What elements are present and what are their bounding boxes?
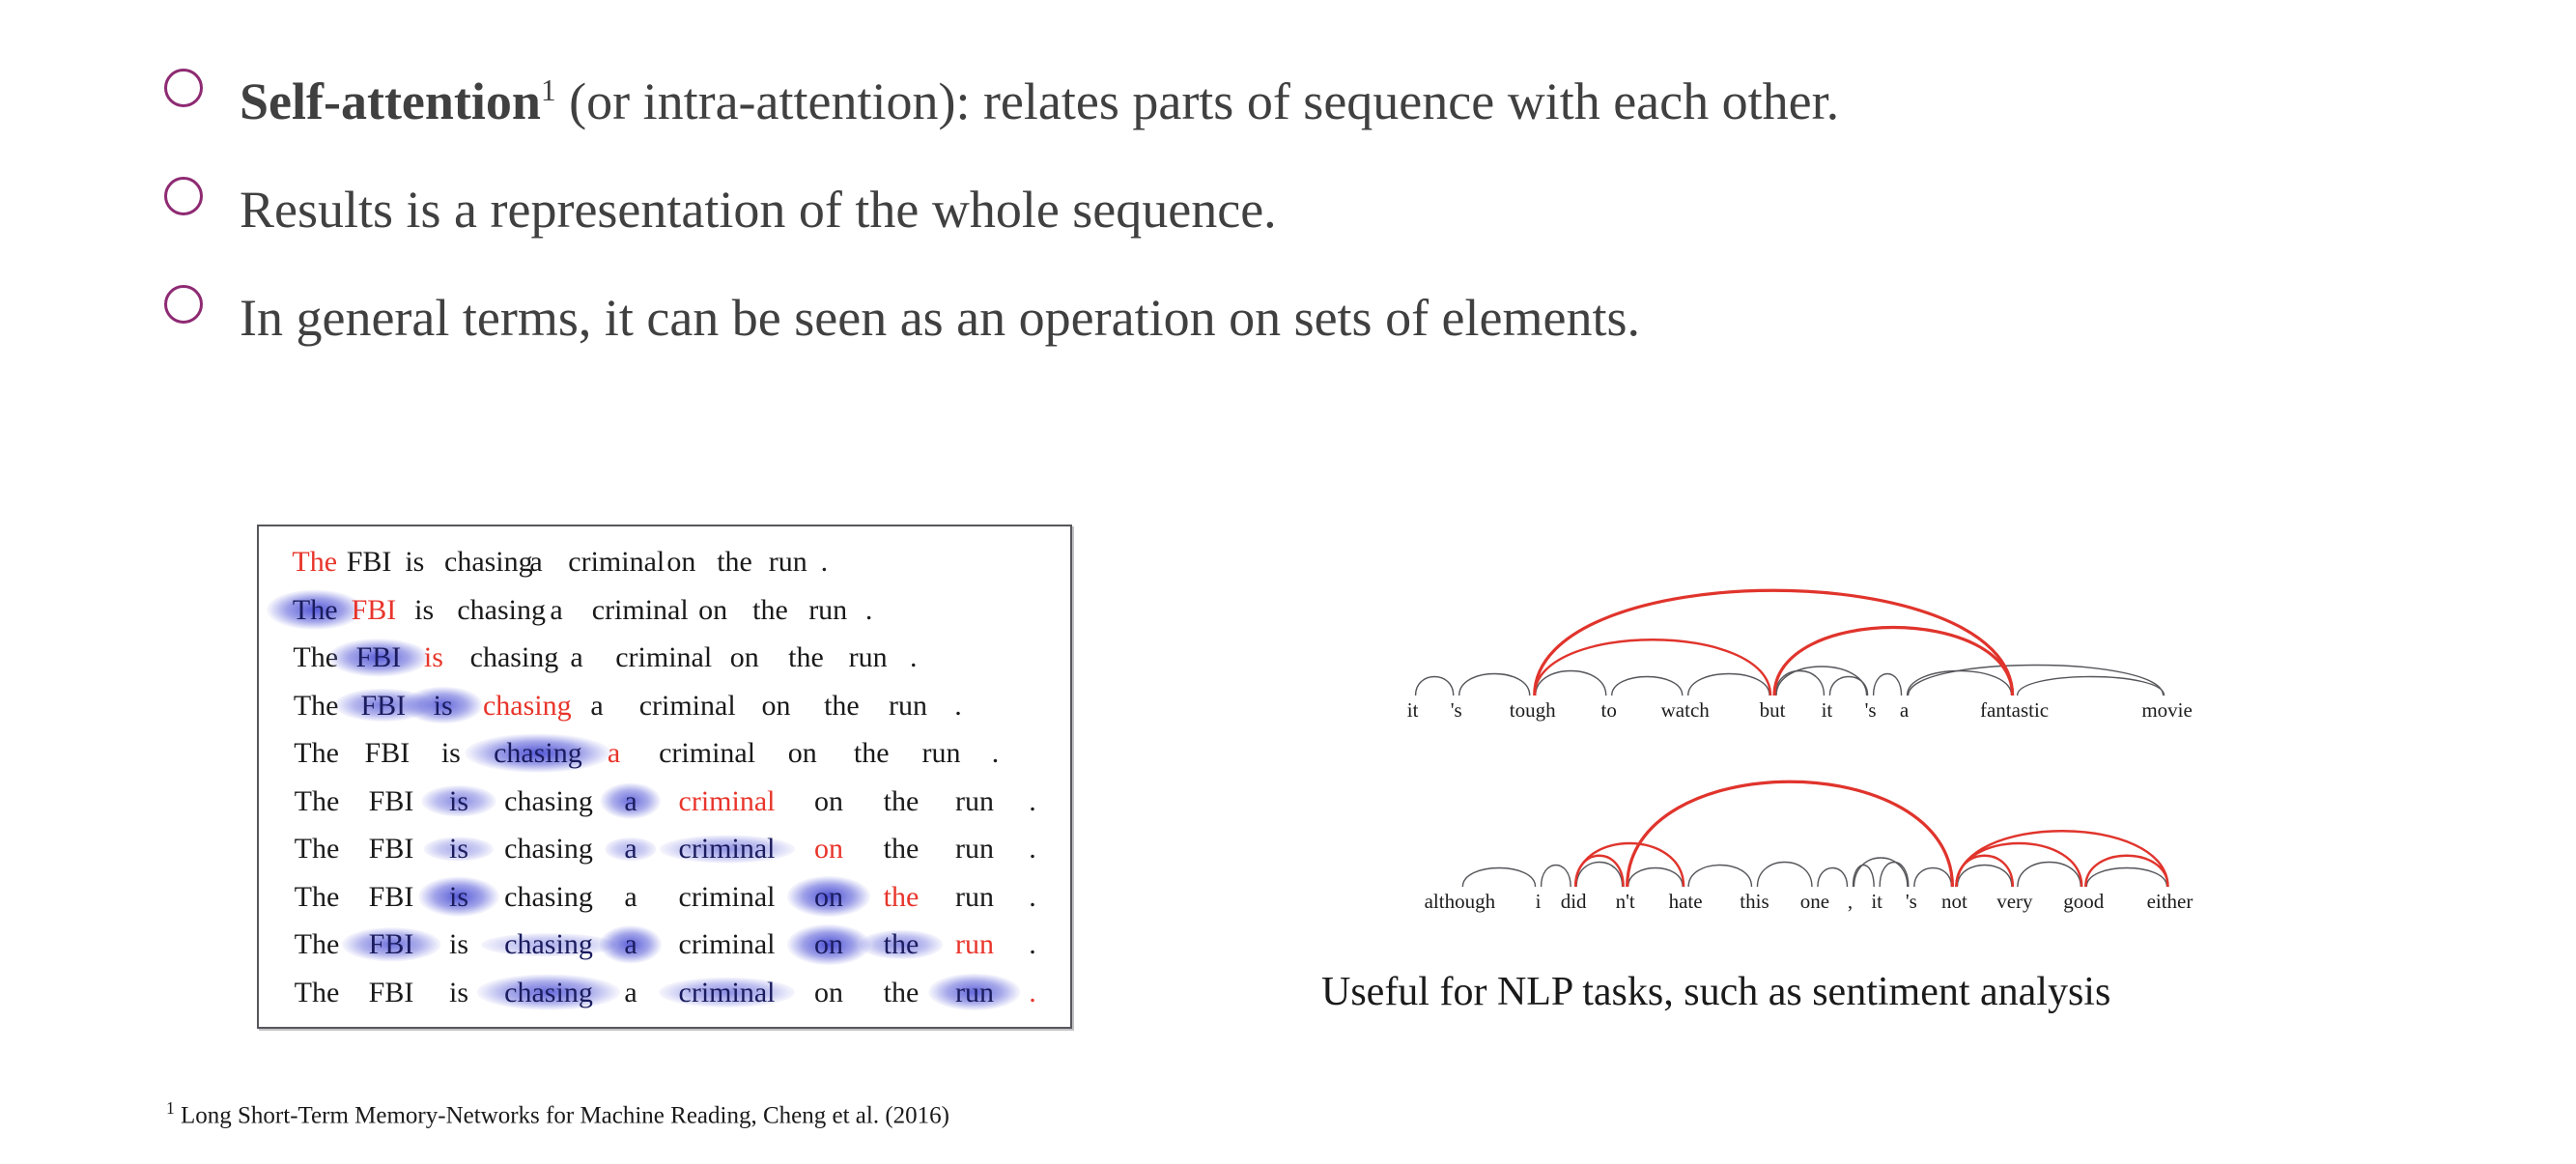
attention-glow — [660, 835, 795, 863]
attention-token: FBI — [342, 586, 406, 635]
arc-gray-segment — [1775, 671, 1824, 696]
arc-word-label: although — [1425, 890, 1496, 913]
arc-sentence-group: althoughididn'thatethisone,it'snotverygo… — [1425, 781, 2194, 913]
attention-token: FBI — [337, 538, 401, 586]
attention-token: on — [659, 538, 703, 586]
attention-token: the — [709, 538, 761, 586]
attention-token: FBI — [359, 921, 423, 969]
attention-token: criminal — [655, 729, 760, 778]
arc-gray-segment — [1854, 858, 1907, 887]
attention-token: run — [947, 778, 1003, 826]
attention-token: run — [840, 634, 896, 682]
attention-rows-container: TheFBIischasingacriminalontherun.TheFBIi… — [280, 538, 1057, 1017]
attention-glow — [342, 927, 440, 962]
arc-word-label: a — [1900, 698, 1910, 722]
attention-token: a — [602, 729, 627, 778]
attention-token: the — [875, 778, 927, 826]
arc-word-label: 's — [1451, 698, 1462, 722]
arc-gray-segment — [1462, 868, 1535, 888]
arc-word-label: this — [1740, 890, 1769, 913]
attention-token: FBI — [355, 729, 419, 778]
attention-token: FBI — [352, 682, 415, 730]
attention-token: The — [288, 969, 346, 1017]
attention-token: a — [564, 634, 589, 682]
arc-gray-segment — [1908, 671, 2012, 696]
arc-word-label: fantastic — [1980, 698, 2049, 722]
arc-gray-segment — [1914, 868, 1952, 888]
attention-token: chasing — [495, 873, 603, 922]
attention-token: on — [807, 873, 851, 922]
attention-glow — [605, 838, 656, 861]
attention-glow — [404, 687, 482, 724]
arc-gray-segment — [1818, 868, 1848, 888]
bullet-item-general-terms: In general terms, it can be seen as an o… — [164, 292, 2482, 379]
attention-token: run — [947, 873, 1003, 922]
attention-token: the — [779, 634, 832, 682]
attention-token: on — [807, 778, 851, 826]
attention-token: criminal — [564, 538, 669, 586]
attention-glow — [422, 785, 496, 816]
attention-token: on — [691, 586, 735, 635]
arc-red-segment — [2085, 856, 2167, 887]
arc-gray-segment — [1688, 674, 1769, 696]
arc-word-label: it — [1871, 890, 1882, 913]
arc-word-label: , — [1848, 890, 1853, 913]
attention-glow — [335, 689, 433, 722]
attention-token: chasing — [495, 825, 603, 873]
arc-gray-segment — [1536, 671, 1606, 696]
attention-token: on — [722, 634, 767, 682]
attention-glow — [787, 876, 870, 917]
attention-row: TheFBIischasingacriminalontherun. — [280, 873, 1057, 922]
arc-red-segment — [1535, 639, 1770, 696]
attention-token: criminal — [587, 586, 693, 635]
arc-word-label: watch — [1661, 698, 1711, 722]
bullet-text: Self-attention1 (or intra-attention): re… — [240, 75, 1839, 128]
attention-token: the — [875, 873, 927, 922]
attention-row: TheFBIischasingacriminalontherun. — [280, 778, 1057, 826]
attention-token: chasing — [495, 921, 603, 969]
attention-token: . — [1024, 825, 1041, 873]
arc-gray-segment — [1829, 677, 1867, 696]
attention-token: FBI — [359, 873, 423, 922]
attention-token: the — [875, 825, 927, 873]
attention-token: a — [618, 969, 643, 1017]
arc-figure-caption: Useful for NLP tasks, such as sentiment … — [1321, 969, 2110, 1015]
arc-gray-segment — [1459, 674, 1530, 696]
attention-glow — [424, 837, 494, 861]
attention-token: a — [618, 921, 643, 969]
bullet-rest-text: In general terms, it can be seen as an o… — [240, 289, 1640, 347]
attention-token: the — [875, 969, 927, 1017]
arc-word-label: not — [1941, 890, 1967, 913]
attention-token: FBI — [359, 778, 423, 826]
attention-token: run — [947, 825, 1003, 873]
attention-glow — [465, 733, 610, 773]
attention-glow — [418, 877, 498, 917]
attention-token: the — [744, 586, 796, 635]
attention-token: the — [875, 921, 927, 969]
attention-row: TheFBIischasingacriminalontherun. — [280, 538, 1057, 586]
attention-token: on — [754, 682, 799, 730]
attention-token: a — [584, 682, 609, 730]
arc-word-label: it — [1407, 698, 1419, 722]
attention-token: criminal — [674, 825, 779, 873]
arc-word-label: hate — [1669, 890, 1703, 913]
attention-token: criminal — [635, 682, 740, 730]
bullet-circle-icon — [164, 177, 203, 215]
arc-gray-segment — [1542, 866, 1571, 888]
attention-token: The — [288, 778, 346, 826]
arc-gray-segment — [1416, 677, 1454, 696]
arc-word-label: but — [1760, 698, 1786, 722]
arc-word-label: either — [2147, 890, 2194, 913]
attention-row: TheFBIischasingacriminalontherun. — [280, 969, 1057, 1017]
attention-token: criminal — [674, 778, 779, 826]
arc-word-label: tough — [1510, 698, 1556, 722]
attention-token: run — [947, 921, 1003, 969]
attention-token: run — [880, 682, 936, 730]
arc-red-segment — [1956, 831, 2167, 887]
attention-token: chasing — [484, 729, 592, 778]
attention-token: the — [845, 729, 897, 778]
arc-word-label: to — [1601, 698, 1617, 722]
attention-token: is — [403, 586, 445, 635]
attention-token: FBI — [359, 825, 423, 873]
arc-word-label: movie — [2141, 698, 2193, 722]
attention-token: chasing — [460, 634, 568, 682]
attention-row: TheFBIischasingacriminalontherun. — [280, 729, 1057, 778]
attention-token: . — [1024, 778, 1041, 826]
attention-token: . — [1024, 969, 1041, 1017]
attention-token: criminal — [674, 873, 779, 922]
arc-gray-segment — [1874, 674, 1902, 696]
attention-token: is — [430, 729, 472, 778]
attention-token: a — [618, 873, 643, 922]
attention-token: chasing — [495, 778, 603, 826]
bullet-list: Self-attention1 (or intra-attention): re… — [164, 75, 2482, 400]
bullet-text: Results is a representation of the whole… — [240, 184, 1277, 236]
arc-gray-segment — [1957, 866, 2011, 888]
arc-gray-segment — [1909, 666, 2164, 696]
attention-token: The — [288, 729, 346, 778]
attention-token: . — [861, 586, 878, 635]
attention-glow — [601, 783, 661, 819]
arc-gray-segment — [1880, 863, 1909, 888]
attention-token: a — [524, 538, 549, 586]
attention-row: TheFBIischasingacriminalontherun. — [280, 682, 1057, 730]
arc-word-label: good — [2063, 890, 2105, 913]
arc-gray-segment — [1628, 868, 1683, 888]
attention-token: . — [1024, 873, 1041, 922]
dependency-arc-figure: it'stoughtowatchbutit'safantasticmovieal… — [1372, 541, 2241, 947]
attention-glow — [481, 933, 615, 956]
arc-word-label: 's — [1906, 890, 1917, 913]
attention-token: FBI — [347, 634, 410, 682]
attention-glow — [860, 930, 943, 959]
bullet-circle-icon — [164, 69, 203, 107]
bullet-text: In general terms, it can be seen as an o… — [240, 292, 1640, 344]
attention-token: on — [807, 825, 851, 873]
attention-token: criminal — [674, 969, 779, 1017]
attention-token: The — [288, 921, 346, 969]
arc-gray-segment — [2018, 863, 2081, 888]
arc-gray-segment — [1688, 866, 1751, 888]
attention-token: The — [287, 634, 345, 682]
attention-token: is — [438, 969, 480, 1017]
attention-matrix-figure: TheFBIischasingacriminalontherun.TheFBIi… — [257, 525, 1072, 1029]
attention-token: the — [815, 682, 867, 730]
attention-token: is — [438, 778, 480, 826]
footnote-marker: 1 — [166, 1098, 175, 1118]
attention-token: . — [1024, 921, 1041, 969]
footnote: 1 Long Short-Term Memory-Networks for Ma… — [166, 1098, 949, 1129]
bullet-circle-icon — [164, 285, 203, 324]
arc-word-label: very — [1996, 890, 2033, 913]
attention-token: is — [412, 634, 455, 682]
attention-token: run — [760, 538, 816, 586]
attention-token: criminal — [674, 921, 779, 969]
attention-glow — [477, 975, 620, 1010]
arc-gray-segment — [2018, 677, 2165, 696]
attention-row: TheFBIischasingacriminalontherun. — [280, 825, 1057, 873]
bullet-item-self-attention: Self-attention1 (or intra-attention): re… — [164, 75, 2482, 162]
attention-token: on — [807, 921, 851, 969]
bullet-bold-lead: Self-attention — [240, 72, 541, 130]
attention-glow — [928, 974, 1020, 1010]
attention-token: on — [780, 729, 825, 778]
attention-token: a — [544, 586, 569, 635]
arc-gray-segment — [1612, 677, 1683, 696]
attention-token: The — [288, 825, 346, 873]
attention-row: TheFBIischasingacriminalontherun. — [280, 634, 1057, 682]
attention-token: run — [947, 969, 1003, 1017]
attention-token: The — [286, 538, 344, 586]
arc-red-segment — [1575, 856, 1624, 887]
attention-token: is — [422, 682, 465, 730]
arc-gray-segment — [1757, 863, 1811, 888]
attention-token: . — [949, 682, 967, 730]
attention-token: The — [288, 873, 346, 922]
attention-token: criminal — [611, 634, 717, 682]
arc-word-label: it — [1822, 698, 1833, 722]
attention-token: chasing — [447, 586, 555, 635]
attention-row: TheFBIischasingacriminalontherun. — [280, 586, 1057, 635]
attention-token: run — [800, 586, 856, 635]
attention-token: is — [438, 825, 480, 873]
bullet-rest-text: (or intra-attention): relates parts of s… — [556, 72, 1839, 130]
bullet-rest-text: Results is a representation of the whole… — [240, 181, 1277, 239]
arc-gray-segment — [2086, 868, 2166, 888]
arc-sentence-group: it'stoughtowatchbutit'safantasticmovie — [1407, 590, 2193, 722]
attention-token: is — [438, 921, 480, 969]
attention-token: a — [618, 778, 643, 826]
arc-word-label: i — [1536, 890, 1542, 913]
attention-token: The — [286, 586, 344, 635]
attention-token: . — [905, 634, 922, 682]
attention-token: chasing — [495, 969, 603, 1017]
attention-token: is — [393, 538, 436, 586]
attention-token: . — [987, 729, 1005, 778]
attention-row: TheFBIischasingacriminalontherun. — [280, 921, 1057, 969]
attention-token: run — [914, 729, 970, 778]
attention-glow — [659, 978, 795, 1007]
attention-token: chasing — [473, 682, 581, 730]
footnote-text: Long Short-Term Memory-Networks for Mach… — [175, 1102, 949, 1128]
arc-word-label: 's — [1865, 698, 1877, 722]
attention-glow — [787, 924, 870, 965]
arc-word-label: one — [1800, 890, 1829, 913]
attention-token: The — [287, 682, 345, 730]
attention-token: is — [438, 873, 480, 922]
footnote-superscript-marker: 1 — [541, 73, 556, 107]
attention-token: . — [815, 538, 833, 586]
arc-word-label: n't — [1616, 890, 1635, 913]
arc-gray-segment — [1776, 667, 1867, 696]
attention-token: on — [807, 969, 851, 1017]
bullet-item-results: Results is a representation of the whole… — [164, 184, 2482, 270]
attention-token: FBI — [359, 969, 423, 1017]
attention-token: a — [618, 825, 643, 873]
arc-word-label: did — [1561, 890, 1587, 913]
arc-diagram-svg: it'stoughtowatchbutit'safantasticmovieal… — [1372, 541, 2241, 947]
attention-glow — [600, 925, 662, 963]
arc-gray-segment — [1576, 863, 1623, 888]
